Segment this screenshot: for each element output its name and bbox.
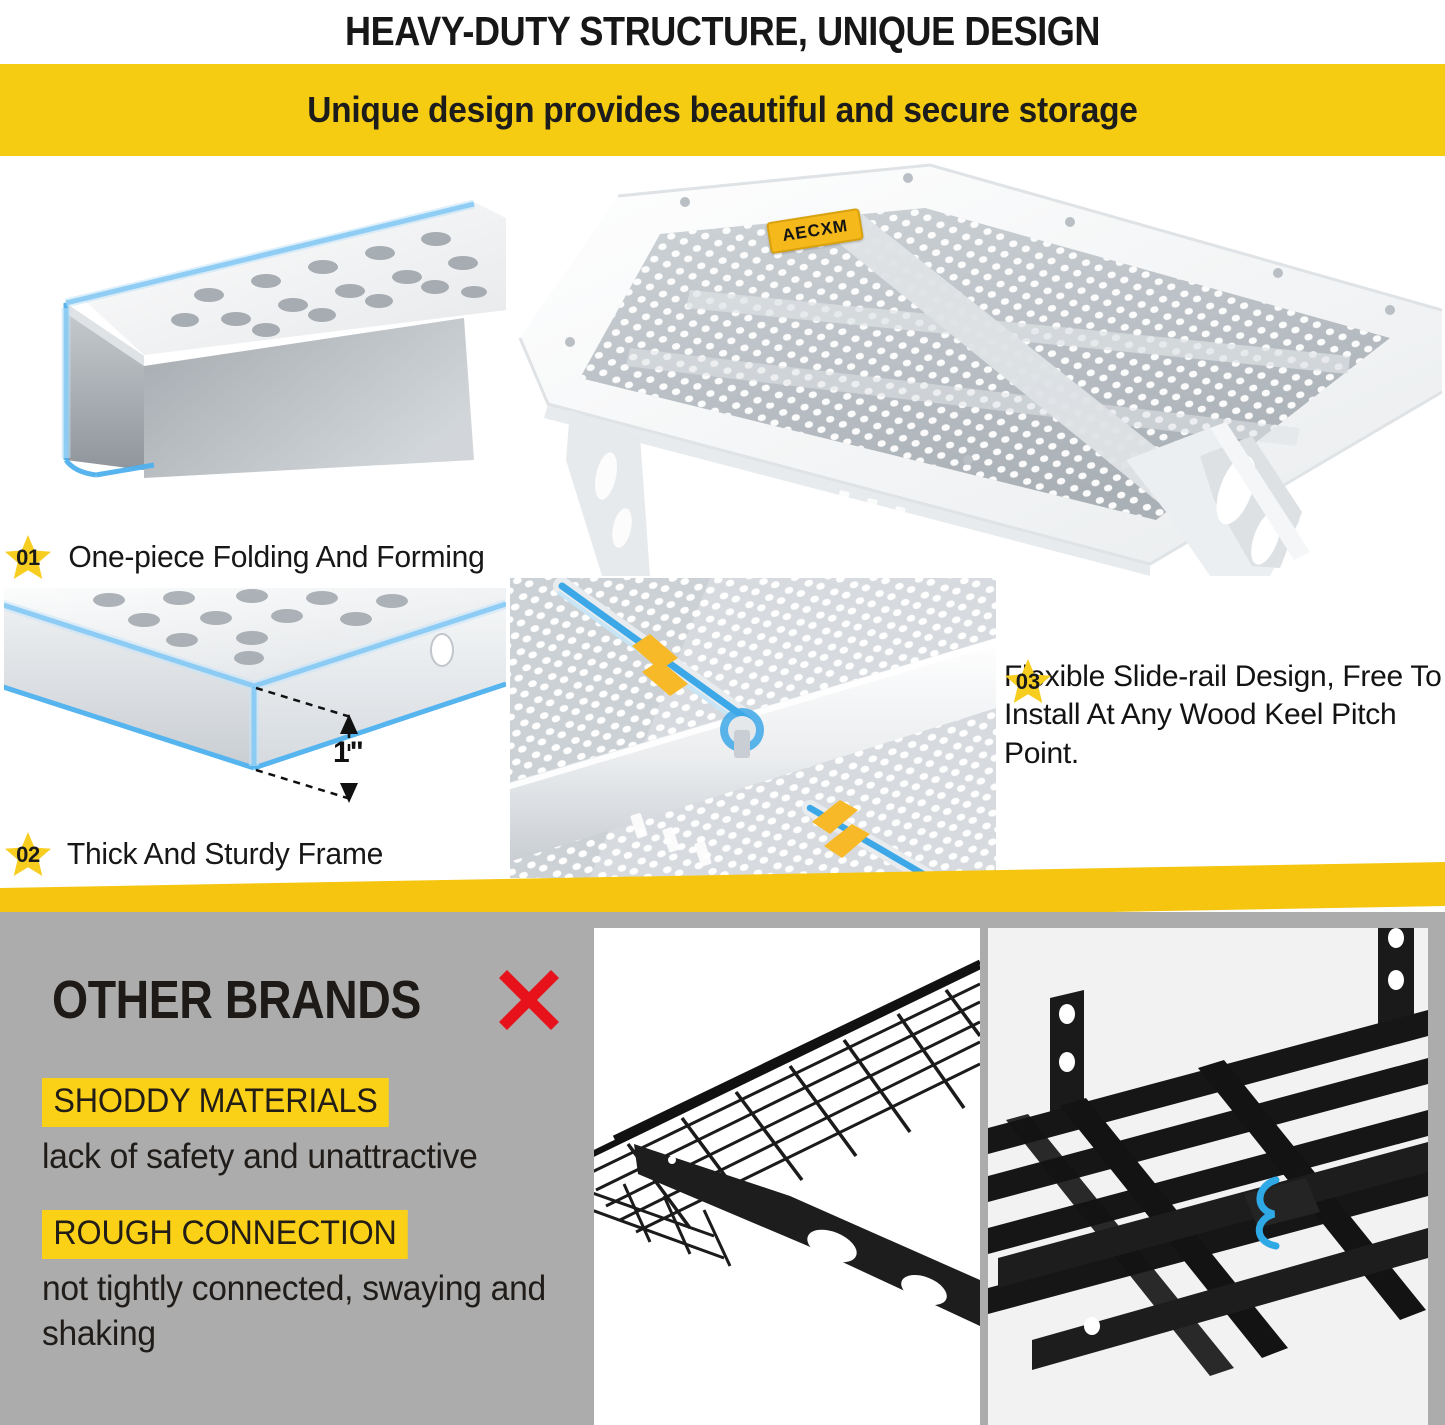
feature-number-03: 03 — [1004, 658, 1052, 704]
drawback-desc-2: not tightly connected, swaying and shaki… — [42, 1267, 560, 1357]
other-brands-title: OTHER BRANDS — [52, 969, 421, 1031]
drawback-item-1: SHODDY MATERIALS lack of safety and unat… — [42, 1078, 496, 1180]
product-infographic: HEAVY-DUTY STRUCTURE, UNIQUE DESIGN Uniq… — [0, 0, 1445, 1425]
drawback-desc-1: lack of safety and unattractive — [42, 1135, 478, 1180]
feature-photo-one-piece-folding — [4, 160, 506, 525]
frame-corner-illustration — [4, 588, 506, 840]
feature-image-grid: 01 One-piece Folding And Forming — [0, 158, 1445, 880]
feature-label-01: One-piece Folding And Forming — [68, 539, 484, 575]
drawback-tag-2: ROUGH CONNECTION — [42, 1210, 408, 1259]
feature-photo-thick-frame: 1" — [4, 588, 506, 840]
feature-caption-01: 01 One-piece Folding And Forming — [4, 526, 506, 588]
red-x-icon — [497, 968, 561, 1032]
competitor-photo-tube-rack — [988, 928, 1428, 1425]
competitor-photo-wire-mesh — [594, 928, 980, 1425]
feature-photo-slide-rail — [510, 578, 996, 878]
tube-rack-illustration — [988, 928, 1428, 1425]
feature-caption-03: 03 Flexible Slide-rail Design, Free To I… — [1004, 658, 1442, 878]
hero-product-photo: AECXM — [510, 160, 1442, 576]
other-brands-header: OTHER BRANDS — [52, 968, 561, 1032]
other-brands-section: OTHER BRANDS SHODDY MATERIALS lack of sa… — [0, 912, 1445, 1425]
subtitle-banner: Unique design provides beautiful and sec… — [0, 64, 1445, 156]
slide-rail-illustration — [510, 578, 996, 878]
folded-channel-illustration — [4, 160, 506, 525]
drawback-tag-1: SHODDY MATERIALS — [42, 1078, 389, 1127]
drawback-item-2: ROUGH CONNECTION not tightly connected, … — [42, 1210, 582, 1357]
page-subtitle: Unique design provides beautiful and sec… — [307, 89, 1137, 131]
dimension-label-1-inch: 1" — [333, 736, 364, 770]
feature-label-03: Flexible Slide-rail Design, Free To Inst… — [1004, 658, 1442, 773]
star-badge-icon: 01 — [4, 534, 52, 580]
wire-mesh-shelf-illustration — [594, 928, 980, 1425]
shelf-underside-illustration — [510, 160, 1442, 576]
page-title: HEAVY-DUTY STRUCTURE, UNIQUE DESIGN — [87, 0, 1359, 62]
feature-number-01: 01 — [4, 534, 52, 580]
